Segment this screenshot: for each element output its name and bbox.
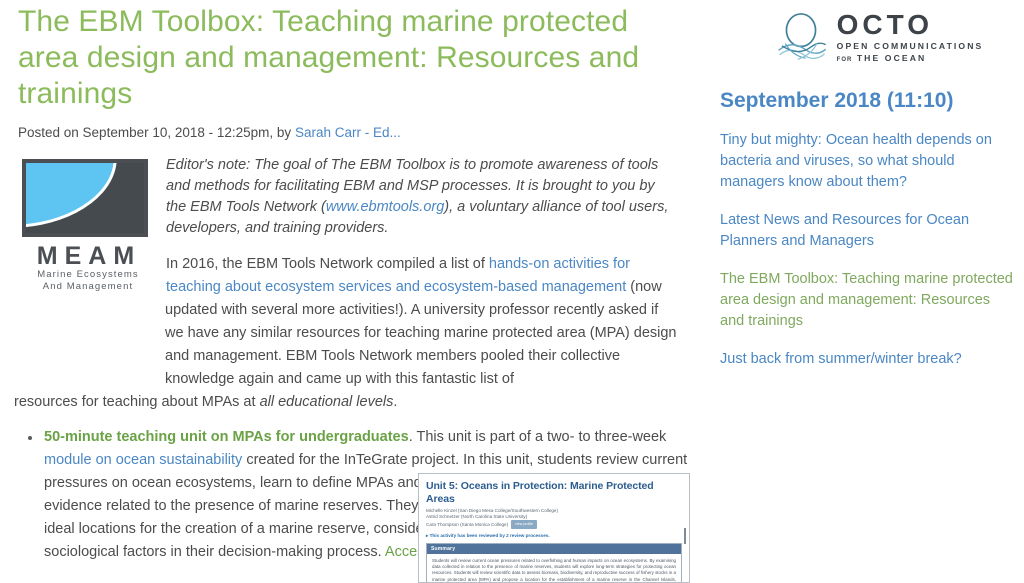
sidebar: OCTO OPEN COMMUNICATIONS FOR THE OCEAN S… <box>700 0 1024 477</box>
intro-tail-part2: . <box>393 394 397 410</box>
meam-wave-shape <box>22 159 121 227</box>
card-title: Unit 5: Oceans in Protection: Marine Pro… <box>426 480 682 506</box>
list-item: The EBM Toolbox: Teaching marine protect… <box>720 269 1014 332</box>
octo-name: OCTO <box>837 10 984 40</box>
module-ocean-sustainability-link[interactable]: module on ocean sustainability <box>44 452 242 468</box>
page-title: The EBM Toolbox: Teaching marine protect… <box>18 4 658 112</box>
intro-tail-emphasis: all educational levels <box>260 394 394 410</box>
intro-tail-part1: resources for teaching about MPAs at <box>14 394 260 410</box>
card-summary-heading: Summary <box>427 544 681 554</box>
meam-tagline-line1: Marine Ecosystems <box>24 269 152 281</box>
embedded-screenshot-card[interactable]: Unit 5: Oceans in Protection: Marine Pro… <box>418 473 690 583</box>
meam-logo-mark-icon <box>22 159 148 237</box>
article-column: The EBM Toolbox: Teaching marine protect… <box>0 0 700 477</box>
card-author-3: Cara Thompson (Santa Monica College)view… <box>426 520 682 528</box>
octo-tagline-2-small: FOR <box>837 57 853 63</box>
octopus-icon <box>773 10 829 66</box>
list-item: Tiny but mighty: Ocean health depends on… <box>720 130 1014 193</box>
octo-tagline-2-main: THE OCEAN <box>852 53 926 63</box>
meam-logo: MEAM Marine Ecosystems And Management <box>22 159 152 293</box>
card-summary-box: Summary Students will review current oce… <box>426 543 682 583</box>
card-scrollbar[interactable] <box>684 528 686 544</box>
list-item-text1: . This unit is part of a two- to three-w… <box>409 429 667 445</box>
card-review-note[interactable]: ▸ This activity has been reviewed by 2 r… <box>426 532 682 539</box>
octo-tagline-1: OPEN COMMUNICATIONS <box>837 40 984 52</box>
sidebar-item-1[interactable]: Tiny but mighty: Ocean health depends on… <box>720 130 1014 193</box>
card-summary-body: Students will review current ocean press… <box>427 554 681 583</box>
ebmtools-link[interactable]: www.ebmtools.org <box>326 199 444 215</box>
post-meta: Posted on September 10, 2018 - 12:25pm, … <box>18 124 700 142</box>
sidebar-item-2[interactable]: Latest News and Resources for Ocean Plan… <box>720 210 1014 252</box>
meam-wordmark: MEAM <box>26 243 152 269</box>
expand-arrow-icon[interactable]: ▸ <box>426 533 428 538</box>
octo-wordmark: OCTO OPEN COMMUNICATIONS FOR THE OCEAN <box>837 10 984 66</box>
card-author-3-name: Cara Thompson (Santa Monica College) <box>426 522 508 527</box>
card-review-text: This activity has been reviewed by 2 rev… <box>430 533 550 538</box>
intro-part1: In 2016, the EBM Tools Network compiled … <box>166 256 489 272</box>
article-body: MEAM Marine Ecosystems And Management Ed… <box>0 155 700 564</box>
octo-tagline-2: FOR THE OCEAN <box>837 52 984 66</box>
list-item: Just back from summer/winter break? <box>720 349 1014 370</box>
sidebar-heading: September 2018 (11:10) <box>720 88 1014 114</box>
sidebar-article-list: Tiny but mighty: Ocean health depends on… <box>720 130 1014 370</box>
meam-tagline-line2: And Management <box>24 281 152 293</box>
list-item: Latest News and Resources for Ocean Plan… <box>720 210 1014 252</box>
sidebar-item-4[interactable]: Just back from summer/winter break? <box>720 349 1014 370</box>
author-link[interactable]: Sarah Carr - Ed... <box>295 125 401 140</box>
card-profile-badge[interactable]: view profile <box>511 520 537 528</box>
page-root: The EBM Toolbox: Teaching marine protect… <box>0 0 1024 477</box>
post-meta-text: Posted on September 10, 2018 - 12:25pm, … <box>18 125 295 140</box>
sidebar-item-3-current[interactable]: The EBM Toolbox: Teaching marine protect… <box>720 269 1014 332</box>
intro-part2: (now updated with several more activitie… <box>165 279 677 387</box>
list-item-title: 50-minute teaching unit on MPAs for unde… <box>44 429 409 445</box>
octo-logo[interactable]: OCTO OPEN COMMUNICATIONS FOR THE OCEAN <box>742 10 1014 66</box>
intro-paragraph-tail: resources for teaching about MPAs at all… <box>0 391 700 414</box>
